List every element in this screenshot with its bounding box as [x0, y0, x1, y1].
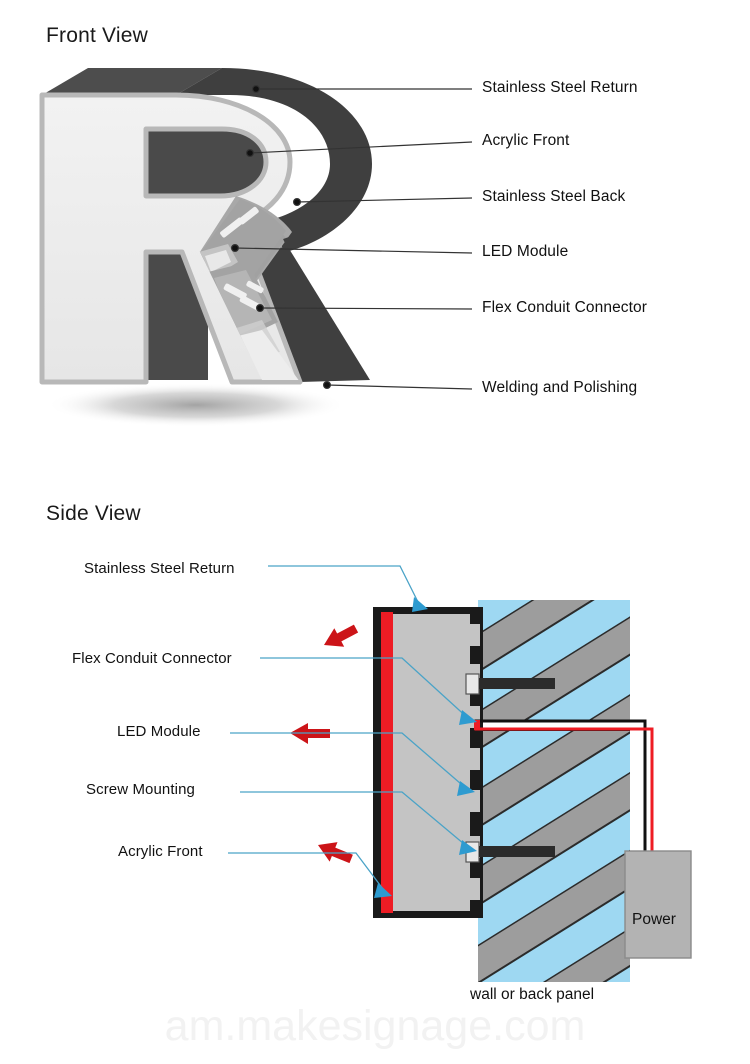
- side-view-label: LED Module: [117, 723, 201, 740]
- side-view-label: Screw Mounting: [86, 781, 195, 798]
- side-view-label: Stainless Steel Return: [84, 560, 235, 577]
- side-view-label: Flex Conduit Connector: [72, 650, 232, 667]
- side-view-label: Acrylic Front: [118, 843, 203, 860]
- sign-cross-section: [373, 607, 483, 918]
- acrylic-front-layer: [381, 612, 393, 913]
- assembly-direction-arrows: [290, 619, 361, 868]
- power-supply-box: [625, 851, 691, 958]
- power-supply-label: Power: [632, 911, 676, 929]
- site-watermark: am.makesignage.com: [0, 1002, 750, 1051]
- side-view-illustration: [0, 0, 750, 1064]
- wall-back-panel-upper: [478, 600, 630, 722]
